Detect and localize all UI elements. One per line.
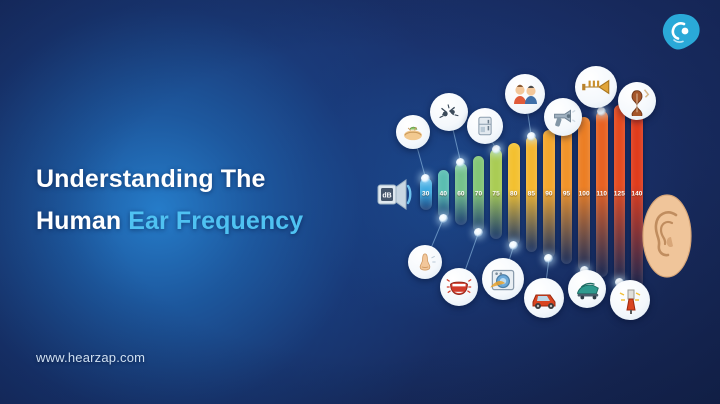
bar-75db: 75 [490,149,502,239]
bar-80db: 80 [508,143,520,246]
hair-dryer-icon[interactable] [544,98,582,136]
birds-insects-icon-glyph [434,97,464,127]
bar-node-40 [439,214,448,223]
bar-node-90 [544,254,553,263]
washing-machine-icon[interactable] [482,258,524,300]
bar-node-85 [527,132,536,141]
conversation-icon[interactable] [505,74,545,114]
bar-label-70: 70 [473,190,485,197]
bar-label-100: 100 [578,190,590,197]
bar-110db: 110 [596,111,608,277]
shouting-mouth-icon[interactable] [440,268,478,306]
bar-label-30: 30 [420,191,432,198]
bar-node-75 [492,145,501,154]
lawn-mower-icon[interactable] [568,270,606,308]
bar-label-80: 80 [508,190,520,197]
bar-100db: 100 [578,117,590,270]
car-icon[interactable] [524,278,564,318]
rustling-leaves-icon-glyph [400,119,426,145]
human-ear-icon [638,193,696,279]
lawn-mower-icon-glyph [572,274,602,304]
whisper-nose-icon-glyph [412,249,438,275]
whisper-nose-icon[interactable] [408,245,442,279]
bar-label-125: 125 [614,190,626,197]
hair-dryer-icon-glyph [548,102,578,132]
title-accent: Ear Frequency [128,207,303,235]
bar-label-60: 60 [455,190,467,197]
bar-node-70 [474,228,483,237]
bar-30db: 30 [420,178,432,210]
violin-icon-glyph [622,86,652,116]
bar-label-90: 90 [543,190,555,197]
bar-label-40: 40 [438,190,450,197]
bar-label-95: 95 [561,190,573,197]
jackhammer-icon-glyph [614,284,646,316]
bar-125db: 125 [614,105,626,283]
page-title: Understanding The Human Ear Frequency [36,158,303,242]
title-line-2: Human Ear Frequency [36,200,303,242]
bar-label-75: 75 [490,190,502,197]
bar-60db: 60 [455,163,467,225]
bar-node-30 [421,174,430,183]
refrigerator-icon-glyph [471,112,499,140]
bar-95db: 95 [561,124,573,265]
bar-node-80 [509,241,518,250]
bar-node-110 [597,107,606,116]
trumpet-icon-glyph [579,70,613,104]
title-plain: Human [36,207,121,235]
bar-label-85: 85 [526,190,538,197]
hearzap-logo[interactable] [660,12,702,54]
trumpet-icon[interactable] [575,66,617,108]
conversation-icon-glyph [509,78,541,110]
bar-85db: 85 [526,136,538,252]
frequency-chart: dB 304060707580859095100110125140 [372,60,702,350]
rustling-leaves-icon[interactable] [396,115,430,149]
website-url[interactable]: www.hearzap.com [36,350,145,365]
washing-machine-icon-glyph [486,262,520,296]
bar-90db: 90 [543,130,555,258]
shouting-mouth-icon-glyph [444,272,474,302]
jackhammer-icon[interactable] [610,280,650,320]
title-line-1: Understanding The [36,158,303,200]
car-icon-glyph [528,282,560,314]
refrigerator-icon[interactable] [467,108,503,144]
bar-40db: 40 [438,170,450,218]
infographic-canvas: Understanding The Human Ear Frequency ww… [0,0,720,404]
birds-insects-icon[interactable] [430,93,468,131]
hearzap-logo-icon [660,12,702,54]
bar-70db: 70 [473,156,485,232]
bar-label-110: 110 [596,190,608,197]
violin-icon[interactable] [618,82,656,120]
